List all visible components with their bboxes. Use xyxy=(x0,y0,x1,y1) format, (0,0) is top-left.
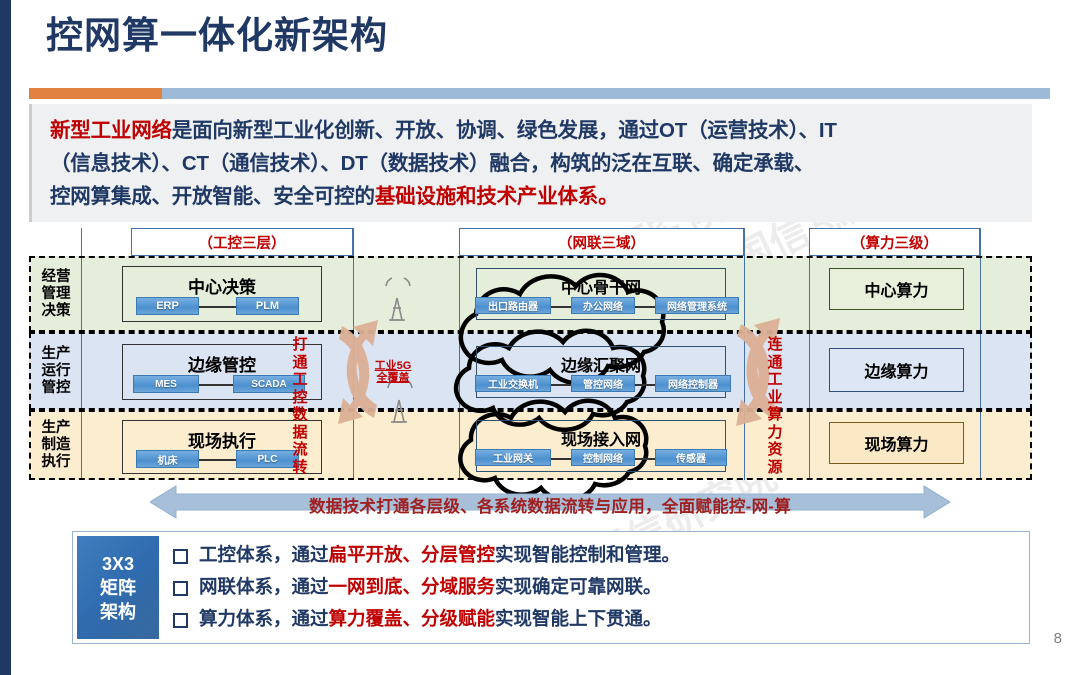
blue-rule xyxy=(162,88,1050,99)
compute-box-center: 中心算力 xyxy=(829,268,964,310)
page-number: 8 xyxy=(1054,630,1062,647)
definition-line1: 是面向新型工业化创新、开放、协调、绿色发展，通过OT（运营技术）、IT xyxy=(172,119,837,142)
definition-text: 新型工业网络是面向新型工业化创新、开放、协调、绿色发展，通过OT（运营技术）、I… xyxy=(50,114,1016,213)
matrix-label-line: 架构 xyxy=(100,600,136,624)
compute-box-edge: 边缘算力 xyxy=(829,348,964,392)
definition-line2: （信息技术）、CT（通信技术）、DT（数据技术）融合，构筑的泛在互联、确定承载、 xyxy=(50,152,814,175)
matrix-item-pre: 网联体系，通过 xyxy=(199,576,329,597)
matrix-item-post: 实现确定可靠网联。 xyxy=(495,576,662,597)
matrix-item-pre: 工控体系，通过 xyxy=(199,544,329,565)
banner-text: 数据技术打通各层级、各系统数据流转与应用，全面赋能控-网-算 xyxy=(150,493,950,517)
annotation-left-cycle: 打通工控数据流转 xyxy=(289,336,311,476)
definition-line3: 控网算集成、开放智能、安全可控的 xyxy=(50,185,375,208)
definition-term: 新型工业网络 xyxy=(50,119,172,142)
chip-network-management-system[interactable]: 网络管理系统 xyxy=(655,297,739,314)
definition-emphasis: 基础设施和技术产业体系。 xyxy=(375,185,619,208)
annotation-5g: 工业5G 全覆盖 xyxy=(367,360,419,384)
chip-egress-router[interactable]: 出口路由器 xyxy=(475,297,551,314)
matrix-label: 3X3 矩阵 架构 xyxy=(77,536,159,639)
chip-network-controller[interactable]: 网络控制器 xyxy=(655,375,731,392)
matrix-item-highlight: 扁平开放、分层管控 xyxy=(329,544,496,565)
matrix-item-highlight: 算力覆盖、分级赋能 xyxy=(329,608,496,629)
annotation-right-cycle: 连通工业算力资源 xyxy=(764,336,786,476)
tower-5g-icon-lower xyxy=(388,380,412,422)
chip-industrial-gateway[interactable]: 工业网关 xyxy=(475,449,551,466)
tower-5g-icon-upper xyxy=(386,278,410,320)
network-box-center-backbone: 中心骨干网 出口路由器 办公网络 网络管理系统 xyxy=(476,268,726,320)
definition-panel: 新型工业网络是面向新型工业化创新、开放、协调、绿色发展，通过OT（运营技术）、I… xyxy=(29,104,1032,222)
page-title: 控网算一体化新架构 xyxy=(46,16,388,57)
bullet-square-icon xyxy=(173,613,188,628)
network-box-edge-aggregation: 边缘汇聚网 工业交换机 管控网络 网络控制器 xyxy=(476,346,726,398)
bullet-square-icon xyxy=(173,581,188,596)
matrix-item: 算力体系，通过算力覆盖、分级赋能实现智能上下贯通。 xyxy=(173,603,1029,635)
matrix-summary-panel: 3X3 矩阵 架构 工控体系，通过扁平开放、分层管控实现智能控制和管理。 网联体… xyxy=(72,531,1030,644)
matrix-item-post: 实现智能控制和管理。 xyxy=(495,544,680,565)
bullet-square-icon xyxy=(173,549,188,564)
matrix-label-line: 3X3 xyxy=(102,552,134,576)
matrix-item: 工控体系，通过扁平开放、分层管控实现智能控制和管理。 xyxy=(173,539,1029,571)
orange-rule xyxy=(29,88,162,99)
matrix-item: 网联体系，通过一网到底、分域服务实现确定可靠网联。 xyxy=(173,571,1029,603)
matrix-item-list: 工控体系，通过扁平开放、分层管控实现智能控制和管理。 网联体系，通过一网到底、分… xyxy=(159,532,1029,643)
slide-root: 中国信息通信研究院 中国信息通信研究院 中国信息通信研究院 中国信息通信研究院 … xyxy=(0,0,1080,675)
network-box-field-access: 现场接入网 工业网关 控制网络 传感器 xyxy=(476,420,726,472)
network-box-title: 现场接入网 xyxy=(477,426,725,450)
chip-sensor[interactable]: 传感器 xyxy=(655,449,727,466)
compute-box-field: 现场算力 xyxy=(829,422,964,464)
left-edge-bar xyxy=(0,0,11,675)
chip-control-network[interactable]: 控制网络 xyxy=(571,449,635,466)
network-box-title: 边缘汇聚网 xyxy=(477,352,725,376)
architecture-diagram: （工控三层） （网联三域） （算力三级） 经营 管理 决策 生产 运行 管控 生… xyxy=(29,228,1032,480)
matrix-label-line: 矩阵 xyxy=(100,576,136,600)
data-technology-banner: 数据技术打通各层级、各系统数据流转与应用，全面赋能控-网-算 xyxy=(150,484,950,520)
matrix-item-highlight: 一网到底、分域服务 xyxy=(329,576,496,597)
matrix-item-pre: 算力体系，通过 xyxy=(199,608,329,629)
matrix-item-post: 实现智能上下贯通。 xyxy=(495,608,662,629)
chip-office-network[interactable]: 办公网络 xyxy=(571,297,635,314)
chip-control-management-network[interactable]: 管控网络 xyxy=(571,375,635,392)
chip-industrial-switch[interactable]: 工业交换机 xyxy=(475,375,551,392)
network-box-title: 中心骨干网 xyxy=(477,274,725,298)
